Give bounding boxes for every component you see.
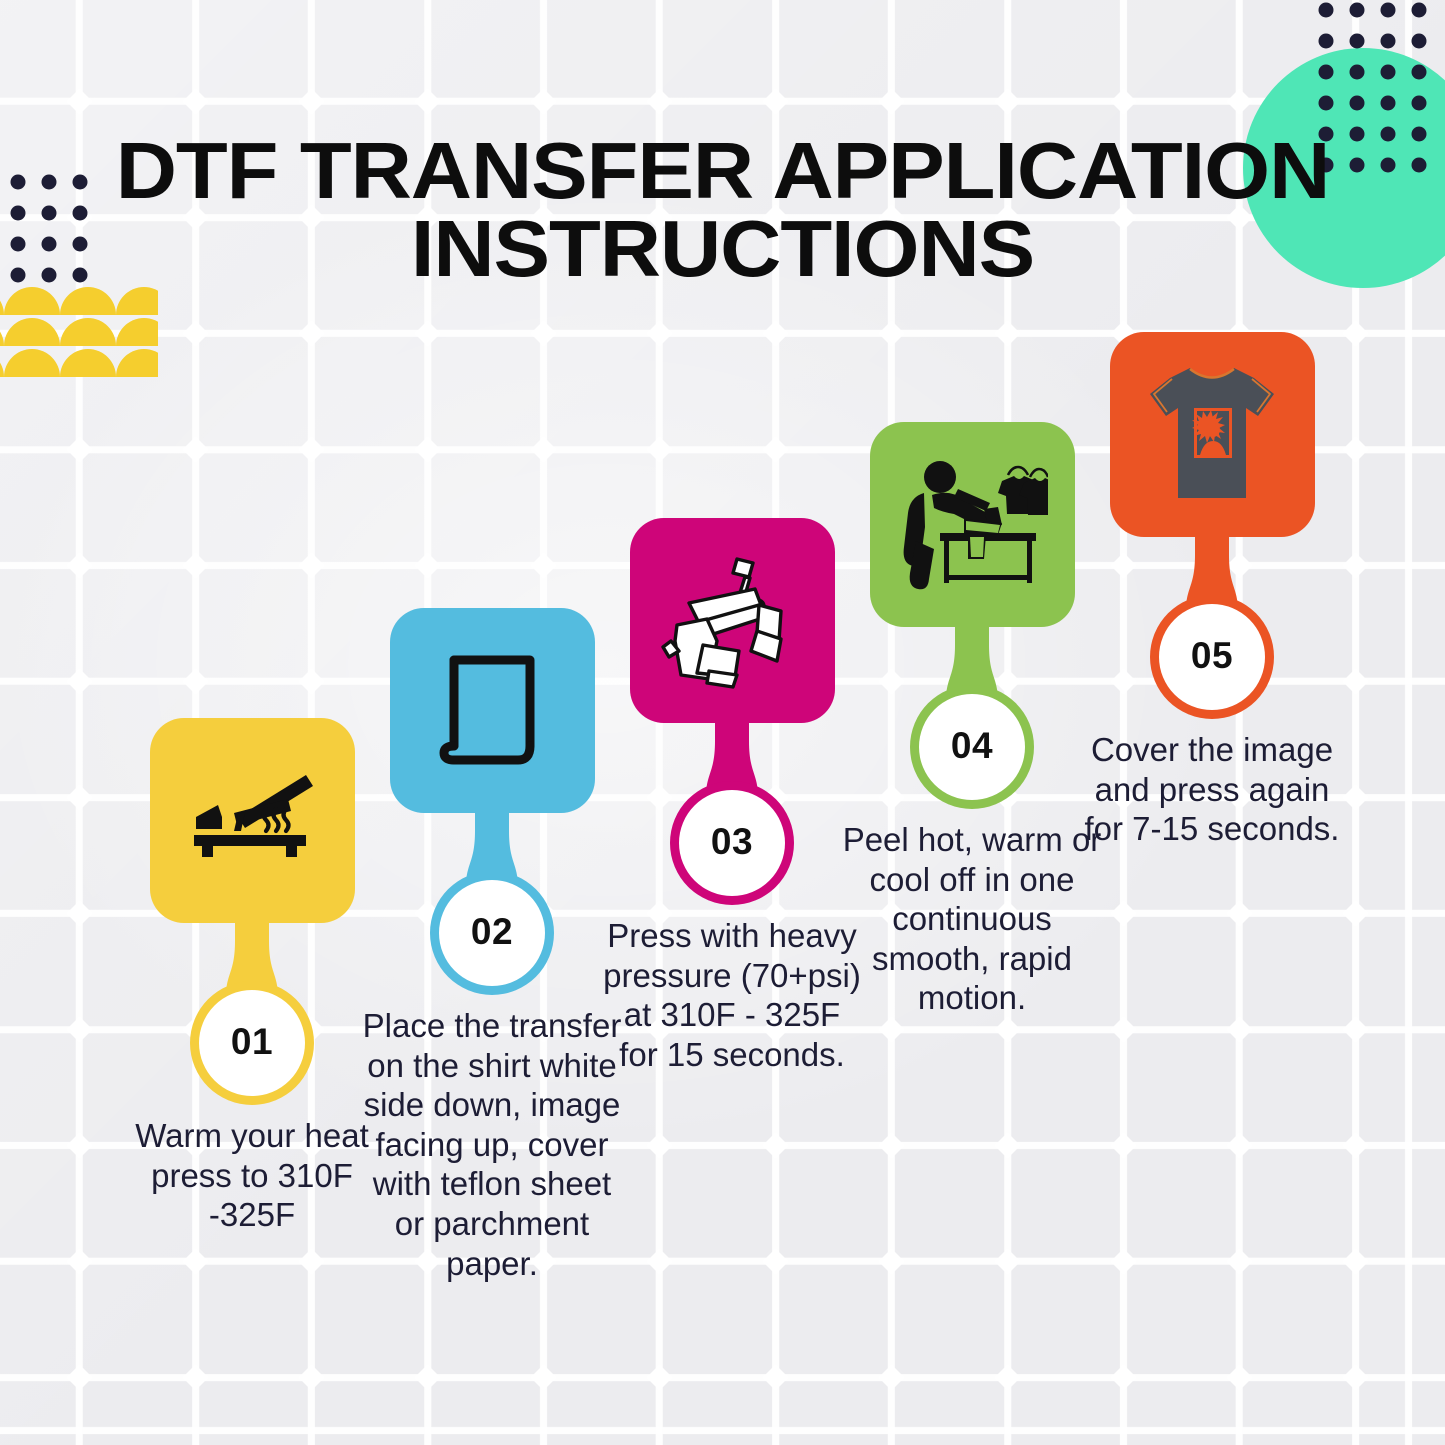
step-icon-tile-01 bbox=[150, 718, 355, 923]
page-title-line-2: INSTRUCTIONS bbox=[0, 210, 1445, 288]
step-caption-01: Warm your heat press to 310F -325F bbox=[122, 1116, 382, 1235]
printed-tshirt-icon bbox=[1142, 360, 1282, 510]
step-number-badge-05: 05 bbox=[1159, 604, 1265, 710]
step-number-04: 04 bbox=[951, 725, 993, 767]
step-item-02: 02 Place the transfer on the shirt white… bbox=[368, 608, 616, 813]
transfer-sheet-icon bbox=[432, 648, 552, 774]
heat-press-machine-icon bbox=[659, 553, 805, 689]
step-item-05: 05 Cover the image and press again for 7… bbox=[1088, 332, 1336, 537]
infographic-canvas: DTF TRANSFER APPLICATION INSTRUCTIONS bbox=[0, 0, 1445, 1445]
step-item-04: 04 Peel hot, warm or cool off in one con… bbox=[848, 422, 1096, 627]
step-icon-tile-05 bbox=[1110, 332, 1315, 537]
step-icon-tile-02 bbox=[390, 608, 595, 813]
step-item-03: 03 Press with heavy pressure (70+psi) at… bbox=[608, 518, 856, 723]
step-number-02: 02 bbox=[471, 911, 513, 953]
step-number-badge-02: 02 bbox=[439, 880, 545, 986]
step-caption-03: Press with heavy pressure (70+psi) at 31… bbox=[602, 916, 862, 1074]
step-item-01: 01 Warm your heat press to 310F -325F bbox=[128, 718, 376, 923]
step-icon-tile-04 bbox=[870, 422, 1075, 627]
step-number-badge-03: 03 bbox=[679, 790, 785, 896]
step-icon-tile-03 bbox=[630, 518, 835, 723]
heat-press-open-icon bbox=[182, 765, 322, 877]
step-caption-05: Cover the image and press again for 7-15… bbox=[1082, 730, 1342, 849]
step-number-03: 03 bbox=[711, 821, 753, 863]
step-number-01: 01 bbox=[231, 1021, 273, 1063]
step-caption-02: Place the transfer on the shirt white si… bbox=[362, 1006, 622, 1283]
step-number-05: 05 bbox=[1191, 635, 1233, 677]
page-title: DTF TRANSFER APPLICATION INSTRUCTIONS bbox=[0, 132, 1445, 289]
page-title-line-1: DTF TRANSFER APPLICATION bbox=[116, 126, 1330, 215]
peel-transfer-person-icon bbox=[896, 455, 1048, 595]
step-caption-04: Peel hot, warm or cool off in one contin… bbox=[842, 820, 1102, 1018]
step-number-badge-01: 01 bbox=[199, 990, 305, 1096]
step-number-badge-04: 04 bbox=[919, 694, 1025, 800]
